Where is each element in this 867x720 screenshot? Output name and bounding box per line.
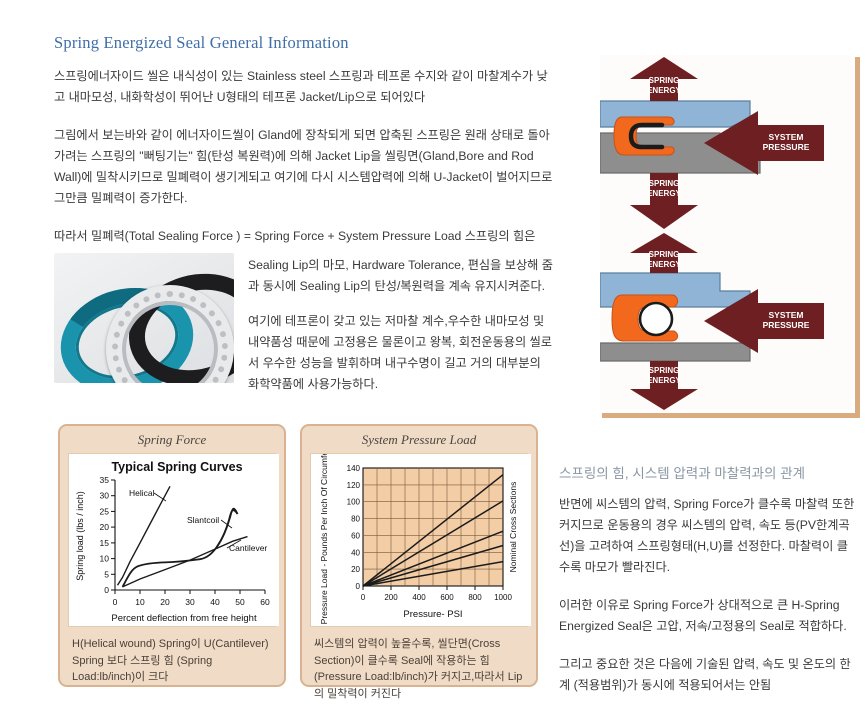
system-pressure-label-line1: SYSTEM [769, 310, 804, 320]
system-pressure-label-line2: PRESSURE [763, 142, 810, 152]
series-label-cantilever: Cantilever [229, 543, 267, 553]
seal-rings-photo [54, 253, 234, 383]
svg-text:0: 0 [356, 582, 361, 591]
svg-text:20: 20 [351, 565, 360, 574]
svg-text:15: 15 [100, 538, 110, 548]
spring-energy-down-label-line1: SPRING [649, 366, 680, 375]
spring-force-card: Spring Force Typical Spring Curves 35 30… [58, 424, 286, 687]
spring-force-chart-title: Typical Spring Curves [111, 460, 242, 474]
spring-energy-down-label-line2: ENERGY [647, 376, 681, 385]
svg-text:800: 800 [468, 593, 482, 602]
spring-force-xlabel: Percent deflection from free height [111, 613, 257, 624]
seal-diagram-panel: SYSTEM PRESSURE SPRING ENERGY SPRING ENE… [597, 52, 855, 413]
svg-text:40: 40 [351, 548, 360, 557]
svg-text:0: 0 [361, 593, 366, 602]
series-label-helical: Helical [129, 488, 155, 498]
svg-text:600: 600 [440, 593, 454, 602]
system-pressure-panel-title: System Pressure Load [302, 426, 536, 453]
paragraph-teflon: 여기에 테프론이 갖고 있는 저마찰 계수,우수한 내마모성 및 내약품성 때문… [248, 311, 554, 395]
system-pressure-card: System Pressure Load [300, 424, 538, 687]
spring-energy-down-label-line2: ENERGY [647, 189, 681, 198]
system-pressure-label-line2: PRESSURE [763, 320, 810, 330]
system-pressure-ylabel: Pressure Load - Pounds Per Inch Of Circu… [319, 454, 329, 624]
diagram-helical-seal: SYSTEM PRESSURE SPRING ENERGY SPRING ENE… [600, 233, 852, 411]
svg-text:80: 80 [351, 515, 360, 524]
series-label-slantcoil: Slantcoil [187, 515, 219, 525]
article-column: Spring Energized Seal General Informatio… [54, 33, 554, 395]
right-text-column: 스프링의 힘, 시스템 압력과 마찰력과의 관계 반면에 씨스템의 압력, Sp… [559, 462, 859, 713]
spring-energy-up-label-line1: SPRING [649, 76, 680, 85]
svg-text:25: 25 [100, 506, 110, 516]
page-title: Spring Energized Seal General Informatio… [54, 33, 554, 53]
svg-text:35: 35 [100, 475, 110, 485]
svg-text:5: 5 [104, 569, 109, 579]
paragraph-intro: 스프링에너자이드 씰은 내식성이 있는 Stainless steel 스프링과… [54, 66, 554, 108]
right-paragraph-h-spring: 이러한 이유로 Spring Force가 상대적으로 큰 H-Spring E… [559, 595, 859, 637]
svg-text:120: 120 [347, 481, 361, 490]
spring-force-panel-title: Spring Force [60, 426, 284, 453]
system-pressure-caption: 씨스템의 압력이 높을수록, 씰단면(Cross Section)이 클수록 S… [302, 627, 536, 702]
paragraph-sealing-lip: Sealing Lip의 마모, Hardware Tolerance, 편심을… [248, 255, 554, 297]
spring-energy-up-label-line2: ENERGY [647, 86, 681, 95]
svg-text:50: 50 [235, 597, 245, 607]
svg-text:10: 10 [100, 554, 110, 564]
svg-text:100: 100 [347, 498, 361, 507]
svg-text:60: 60 [351, 531, 360, 540]
diagram-cantilever-seal: SYSTEM PRESSURE SPRING ENERGY SPRING ENE… [600, 55, 852, 233]
document-page: Spring Energized Seal General Informatio… [0, 0, 867, 720]
svg-text:60: 60 [260, 597, 270, 607]
system-pressure-chart: 140 120 100 80 60 40 20 0 0 200 400 600 … [310, 453, 528, 627]
svg-text:140: 140 [347, 464, 361, 473]
svg-text:30: 30 [185, 597, 195, 607]
system-pressure-ylabel-right: Nominal Cross Sections [508, 482, 518, 573]
paragraph-mechanism: 그림에서 보는바와 같이 에너자이드씰이 Gland에 장착되게 되면 압축된 … [54, 125, 554, 209]
photo-text-row: Sealing Lip의 마모, Hardware Tolerance, 편심을… [54, 253, 554, 395]
spring-energy-down-label-line1: SPRING [649, 179, 680, 188]
svg-text:200: 200 [384, 593, 398, 602]
svg-text:10: 10 [135, 597, 145, 607]
system-pressure-label-line1: SYSTEM [769, 132, 804, 142]
spring-force-ylabel: Spring load (lbs / inch) [75, 491, 85, 581]
spring-force-caption: H(Helical wound) Spring이 U(Cantilever) S… [60, 627, 284, 686]
svg-text:0: 0 [113, 597, 118, 607]
photo-side-text: Sealing Lip의 마모, Hardware Tolerance, 편심을… [248, 253, 554, 395]
svg-text:20: 20 [160, 597, 170, 607]
right-column-title: 스프링의 힘, 시스템 압력과 마찰력과의 관계 [559, 462, 859, 482]
right-paragraph-friction: 반면에 씨스템의 압력, Spring Force가 클수록 마찰력 또한 커지… [559, 494, 859, 578]
svg-text:30: 30 [100, 491, 110, 501]
system-pressure-xlabel: Pressure- PSI [403, 609, 462, 620]
spring-energy-up-label-line2: ENERGY [647, 260, 681, 269]
svg-text:40: 40 [210, 597, 220, 607]
svg-text:20: 20 [100, 522, 110, 532]
spring-energy-up-label-line1: SPRING [649, 250, 680, 259]
svg-text:1000: 1000 [494, 593, 512, 602]
right-paragraph-limits: 그리고 중요한 것은 다음에 기술된 압력, 속도 및 온도의 한계 (적용범위… [559, 654, 859, 696]
paragraph-formula: 따라서 밀폐력(Total Sealing Force ) = Spring F… [54, 226, 554, 247]
spring-force-chart: Typical Spring Curves 35 30 25 20 15 10 … [68, 453, 276, 627]
svg-text:400: 400 [412, 593, 426, 602]
svg-text:0: 0 [104, 585, 109, 595]
